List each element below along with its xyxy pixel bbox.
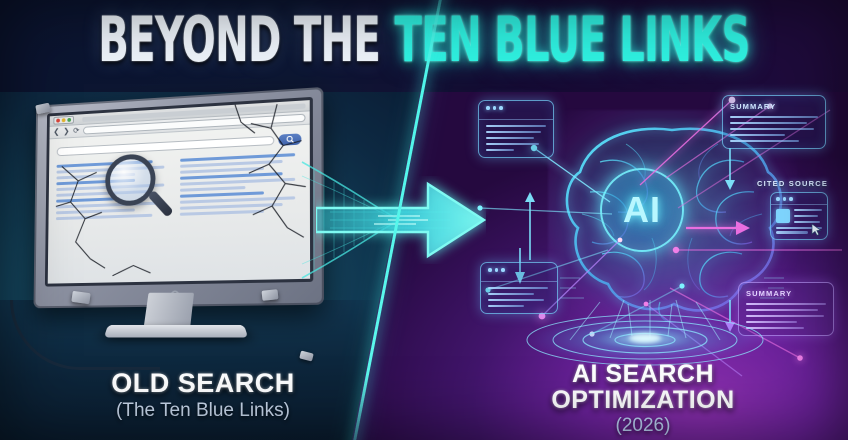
window-dot xyxy=(495,268,499,272)
result-text xyxy=(56,214,153,220)
window-controls xyxy=(776,197,822,201)
results-column-right xyxy=(180,153,302,216)
result-text xyxy=(56,208,135,214)
card-text-line xyxy=(486,137,534,139)
card-text-line xyxy=(794,209,822,211)
card-text-line xyxy=(746,315,824,317)
card-text-line xyxy=(488,287,548,289)
card-thumbnail xyxy=(776,209,790,223)
result-text xyxy=(180,210,264,216)
window-close-dot[interactable] xyxy=(56,119,60,123)
result-card-bottom-left[interactable] xyxy=(480,262,558,314)
window-dot xyxy=(493,106,497,110)
results-column-left xyxy=(56,159,170,220)
card-text-line xyxy=(488,305,524,307)
card-window-titlebar xyxy=(479,101,553,120)
monitor-screen: ❮ ❯ ⟳ xyxy=(48,100,310,284)
monitor-bezel: ❮ ❯ ⟳ xyxy=(34,87,325,308)
card-text-line xyxy=(730,116,818,118)
card-text-line xyxy=(486,143,539,145)
card-text-line xyxy=(746,327,804,329)
card-text-line xyxy=(486,149,514,151)
search-input[interactable] xyxy=(57,136,275,156)
result-text xyxy=(180,186,246,192)
window-dot xyxy=(776,197,780,201)
card-text-line xyxy=(794,215,818,217)
card-text-line xyxy=(746,303,826,305)
glass-debris xyxy=(71,291,90,304)
arrow-right-icon[interactable]: ❯ xyxy=(63,128,69,136)
card-body xyxy=(776,209,822,223)
window-dot xyxy=(501,268,505,272)
monitor-inner-frame: ❮ ❯ ⟳ xyxy=(45,97,313,287)
cited-source-card[interactable] xyxy=(770,192,828,240)
result-text xyxy=(56,201,164,208)
card-text-line xyxy=(746,309,818,311)
infographic-banner: BEYOND THE TEN BLUE LINKS xyxy=(0,0,848,440)
results-columns xyxy=(56,153,302,220)
window-dot xyxy=(789,197,793,201)
summary-card-title: SUMMARY xyxy=(746,289,826,298)
result-text xyxy=(56,190,152,197)
window-minimize-dot[interactable] xyxy=(62,118,66,122)
card-text-line xyxy=(488,293,534,295)
left-caption-subtitle: (The Ten Blue Links) xyxy=(58,400,348,422)
card-text-line xyxy=(730,140,799,142)
card-window-titlebar xyxy=(771,193,827,205)
result-link[interactable] xyxy=(180,191,264,197)
window-maximize-dot[interactable] xyxy=(67,118,71,122)
result-card-top-left[interactable] xyxy=(478,100,554,158)
window-dot xyxy=(783,197,787,201)
card-text-line xyxy=(730,128,814,130)
result-text xyxy=(180,203,283,210)
summary-card-top-right[interactable]: SUMMARY xyxy=(722,95,826,149)
search-button[interactable] xyxy=(278,133,301,145)
card-text-line xyxy=(486,125,546,127)
arrow-right-icon xyxy=(316,176,486,264)
card-window-titlebar xyxy=(481,263,557,282)
search-results-page xyxy=(49,125,310,221)
window-dot xyxy=(488,268,492,272)
summary-card-bottom-right[interactable]: SUMMARY xyxy=(738,282,834,336)
glass-debris xyxy=(262,289,279,301)
left-panel-caption: OLD SEARCH (The Ten Blue Links) xyxy=(58,368,348,422)
right-panel-caption: AI SEARCH OPTIMIZATION (2026) xyxy=(478,362,808,437)
page-title: BEYOND THE TEN BLUE LINKS xyxy=(119,3,730,75)
window-controls xyxy=(488,268,550,272)
card-text-line xyxy=(730,122,807,124)
left-caption-title: OLD SEARCH xyxy=(58,368,348,399)
search-icon xyxy=(285,135,294,145)
summary-card-title: SUMMARY xyxy=(730,102,818,111)
window-controls xyxy=(486,106,546,110)
card-text-line xyxy=(730,134,785,136)
right-caption-title-line1: AI SEARCH xyxy=(478,362,808,388)
page-title-white-part: BEYOND THE xyxy=(98,3,380,76)
window-dot xyxy=(486,106,490,110)
arrow-left-icon[interactable]: ❮ xyxy=(53,128,59,136)
right-caption-subtitle: (2026) xyxy=(478,415,808,437)
page-title-cyan-part: TEN BLUE LINKS xyxy=(395,3,750,76)
window-dot xyxy=(499,106,503,110)
card-text-line xyxy=(488,299,544,301)
card-text-line xyxy=(776,231,808,233)
right-caption-title-line2: OPTIMIZATION xyxy=(478,388,808,414)
cursor-arrow-icon xyxy=(811,223,822,236)
reload-icon[interactable]: ⟳ xyxy=(73,127,79,135)
window-controls[interactable] xyxy=(53,116,74,125)
card-text-block xyxy=(794,209,822,223)
result-link[interactable] xyxy=(56,197,118,202)
cited-source-label: CITED SOURCE xyxy=(757,179,828,188)
card-text-line xyxy=(486,131,541,133)
card-text-line xyxy=(746,321,797,323)
